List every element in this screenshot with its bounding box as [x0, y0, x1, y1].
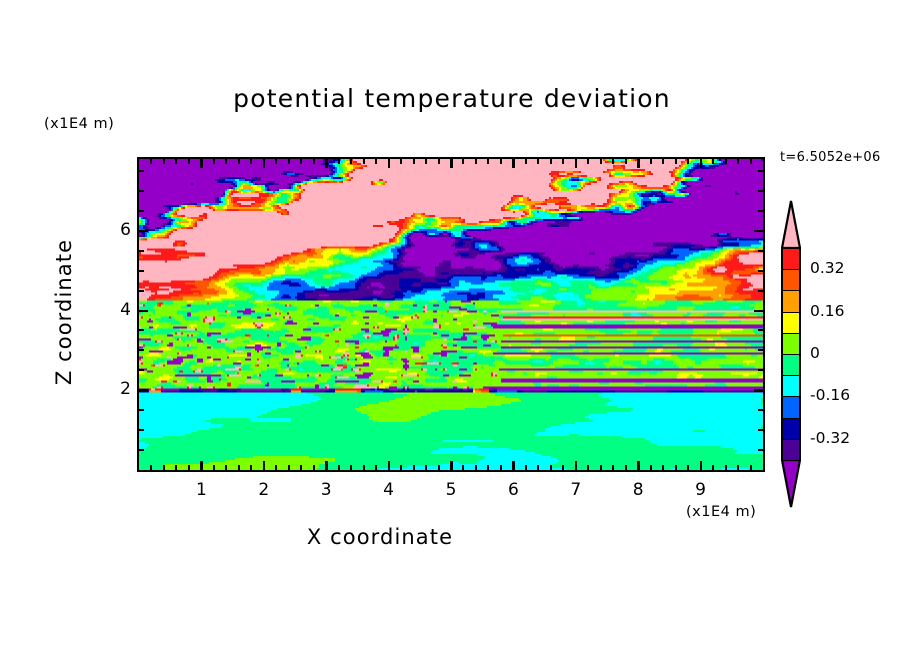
colorbar[interactable]	[781, 200, 801, 512]
x-tick-label: 5	[443, 480, 459, 500]
x-minor-tick	[600, 465, 602, 470]
x-minor-tick	[338, 465, 340, 470]
x-minor-tick	[175, 465, 177, 470]
x-minor-tick	[363, 159, 365, 164]
x-minor-tick	[288, 465, 290, 470]
colorbar-band	[781, 375, 801, 398]
x-major-tick	[637, 461, 640, 470]
x-tick-label: 8	[630, 480, 646, 500]
y-minor-tick	[139, 329, 144, 331]
colorbar-tick-label: -0.32	[810, 429, 850, 447]
y-major-tick	[139, 310, 148, 313]
x-tick-label: 6	[505, 480, 521, 500]
x-minor-tick	[188, 159, 190, 164]
colorbar-tick-label: 0	[810, 344, 820, 362]
x-minor-tick	[375, 159, 377, 164]
x-major-tick	[450, 461, 453, 470]
x-minor-tick	[163, 159, 165, 164]
x-major-tick	[388, 159, 391, 168]
y-minor-tick	[758, 290, 763, 292]
colorbar-band	[781, 312, 801, 335]
x-minor-tick	[363, 465, 365, 470]
x-minor-tick	[288, 159, 290, 164]
x-minor-tick	[188, 465, 190, 470]
x-minor-tick	[662, 159, 664, 164]
y-minor-tick	[139, 190, 144, 192]
y-minor-tick	[139, 449, 144, 451]
x-tick-label: 3	[318, 480, 334, 500]
x-major-tick	[200, 159, 203, 168]
colorbar-tick-label: 0.32	[810, 259, 845, 277]
x-minor-tick	[438, 465, 440, 470]
x-minor-tick	[313, 465, 315, 470]
x-minor-tick	[425, 159, 427, 164]
x-minor-tick	[712, 465, 714, 470]
y-minor-tick	[758, 190, 763, 192]
x-major-tick	[325, 159, 328, 168]
y-minor-tick	[758, 250, 763, 252]
y-major-tick	[139, 230, 148, 233]
colorbar-band	[781, 333, 801, 356]
colorbar-over-cap	[781, 200, 801, 248]
x-minor-tick	[238, 465, 240, 470]
x-minor-tick	[350, 159, 352, 164]
y-axis-title: Z coordinate	[52, 202, 76, 422]
x-minor-tick	[687, 159, 689, 164]
x-minor-tick	[500, 465, 502, 470]
x-minor-tick	[487, 159, 489, 164]
y-minor-tick	[758, 270, 763, 272]
x-tick-label: 1	[193, 480, 209, 500]
colorbar-tick-label: 0.16	[810, 302, 845, 320]
y-tick-label: 6	[113, 220, 131, 240]
y-minor-tick	[139, 369, 144, 371]
x-minor-tick	[537, 159, 539, 164]
x-minor-tick	[500, 159, 502, 164]
y-minor-tick	[139, 290, 144, 292]
x-minor-tick	[462, 465, 464, 470]
x-minor-tick	[550, 159, 552, 164]
y-minor-tick	[758, 409, 763, 411]
x-minor-tick	[413, 465, 415, 470]
x-minor-tick	[175, 159, 177, 164]
x-minor-tick	[475, 465, 477, 470]
x-major-tick	[325, 461, 328, 470]
x-minor-tick	[550, 465, 552, 470]
x-axis-title: X coordinate	[0, 525, 760, 549]
x-minor-tick	[587, 159, 589, 164]
x-minor-tick	[725, 465, 727, 470]
contour-field	[139, 159, 763, 470]
x-minor-tick	[625, 465, 627, 470]
x-minor-tick	[662, 465, 664, 470]
y-minor-tick	[758, 210, 763, 212]
x-major-tick	[637, 159, 640, 168]
y-major-tick	[754, 389, 763, 392]
x-minor-tick	[462, 159, 464, 164]
x-minor-tick	[400, 159, 402, 164]
x-minor-tick	[163, 465, 165, 470]
x-tick-label: 7	[568, 480, 584, 500]
x-minor-tick	[600, 159, 602, 164]
colorbar-tick-label: -0.16	[810, 386, 850, 404]
colorbar-band	[781, 354, 801, 377]
colorbar-band	[781, 396, 801, 419]
y-minor-tick	[758, 369, 763, 371]
y-minor-tick	[758, 329, 763, 331]
x-minor-tick	[737, 159, 739, 164]
x-major-tick	[263, 461, 266, 470]
y-major-tick	[139, 389, 148, 392]
x-axis-unit-label: (x1E4 m)	[686, 504, 756, 520]
y-axis-unit-label: (x1E4 m)	[44, 116, 114, 132]
x-minor-tick	[413, 159, 415, 164]
page-title: potential temperature deviation	[0, 84, 904, 113]
x-minor-tick	[612, 465, 614, 470]
colorbar-band	[781, 290, 801, 313]
x-minor-tick	[675, 465, 677, 470]
x-minor-tick	[375, 465, 377, 470]
x-minor-tick	[625, 159, 627, 164]
x-minor-tick	[687, 465, 689, 470]
x-minor-tick	[150, 159, 152, 164]
x-minor-tick	[250, 465, 252, 470]
x-minor-tick	[562, 465, 564, 470]
x-major-tick	[575, 159, 578, 168]
x-minor-tick	[750, 159, 752, 164]
x-minor-tick	[250, 159, 252, 164]
colorbar-band	[781, 269, 801, 292]
colorbar-band	[781, 248, 801, 271]
x-minor-tick	[238, 159, 240, 164]
x-minor-tick	[275, 465, 277, 470]
x-minor-tick	[737, 465, 739, 470]
colorbar-under-cap	[781, 460, 801, 508]
x-major-tick	[575, 461, 578, 470]
x-tick-label: 4	[381, 480, 397, 500]
x-minor-tick	[587, 465, 589, 470]
x-minor-tick	[650, 465, 652, 470]
x-minor-tick	[425, 465, 427, 470]
y-minor-tick	[139, 270, 144, 272]
x-minor-tick	[612, 159, 614, 164]
y-minor-tick	[758, 449, 763, 451]
time-annotation: t=6.5052e+06	[780, 150, 881, 165]
x-minor-tick	[675, 159, 677, 164]
x-minor-tick	[350, 465, 352, 470]
x-minor-tick	[750, 465, 752, 470]
x-major-tick	[450, 159, 453, 168]
x-minor-tick	[438, 159, 440, 164]
x-minor-tick	[712, 159, 714, 164]
x-minor-tick	[537, 465, 539, 470]
y-minor-tick	[139, 170, 144, 172]
x-major-tick	[263, 159, 266, 168]
x-minor-tick	[213, 465, 215, 470]
y-major-tick	[754, 310, 763, 313]
x-minor-tick	[275, 159, 277, 164]
x-major-tick	[512, 159, 515, 168]
y-major-tick	[754, 230, 763, 233]
x-minor-tick	[525, 159, 527, 164]
y-minor-tick	[139, 409, 144, 411]
x-minor-tick	[525, 465, 527, 470]
x-major-tick	[700, 461, 703, 470]
y-minor-tick	[758, 349, 763, 351]
y-minor-tick	[758, 170, 763, 172]
y-minor-tick	[139, 250, 144, 252]
y-minor-tick	[758, 429, 763, 431]
x-minor-tick	[338, 159, 340, 164]
contour-plot-area[interactable]	[137, 157, 765, 472]
x-minor-tick	[400, 465, 402, 470]
colorbar-band	[781, 418, 801, 441]
x-major-tick	[200, 461, 203, 470]
x-minor-tick	[300, 465, 302, 470]
x-tick-label: 9	[693, 480, 709, 500]
x-minor-tick	[313, 159, 315, 164]
y-tick-label: 4	[113, 300, 131, 320]
x-minor-tick	[650, 159, 652, 164]
x-major-tick	[512, 461, 515, 470]
colorbar-band	[781, 439, 801, 462]
x-major-tick	[700, 159, 703, 168]
y-minor-tick	[139, 429, 144, 431]
x-minor-tick	[475, 159, 477, 164]
x-minor-tick	[725, 159, 727, 164]
x-minor-tick	[150, 465, 152, 470]
x-major-tick	[388, 461, 391, 470]
y-tick-label: 2	[113, 379, 131, 399]
x-minor-tick	[225, 159, 227, 164]
x-minor-tick	[225, 465, 227, 470]
x-minor-tick	[487, 465, 489, 470]
y-minor-tick	[139, 210, 144, 212]
x-minor-tick	[300, 159, 302, 164]
x-minor-tick	[213, 159, 215, 164]
y-minor-tick	[139, 349, 144, 351]
x-tick-label: 2	[256, 480, 272, 500]
x-minor-tick	[562, 159, 564, 164]
plot-stage: potential temperature deviation (x1E4 m)…	[0, 0, 904, 654]
